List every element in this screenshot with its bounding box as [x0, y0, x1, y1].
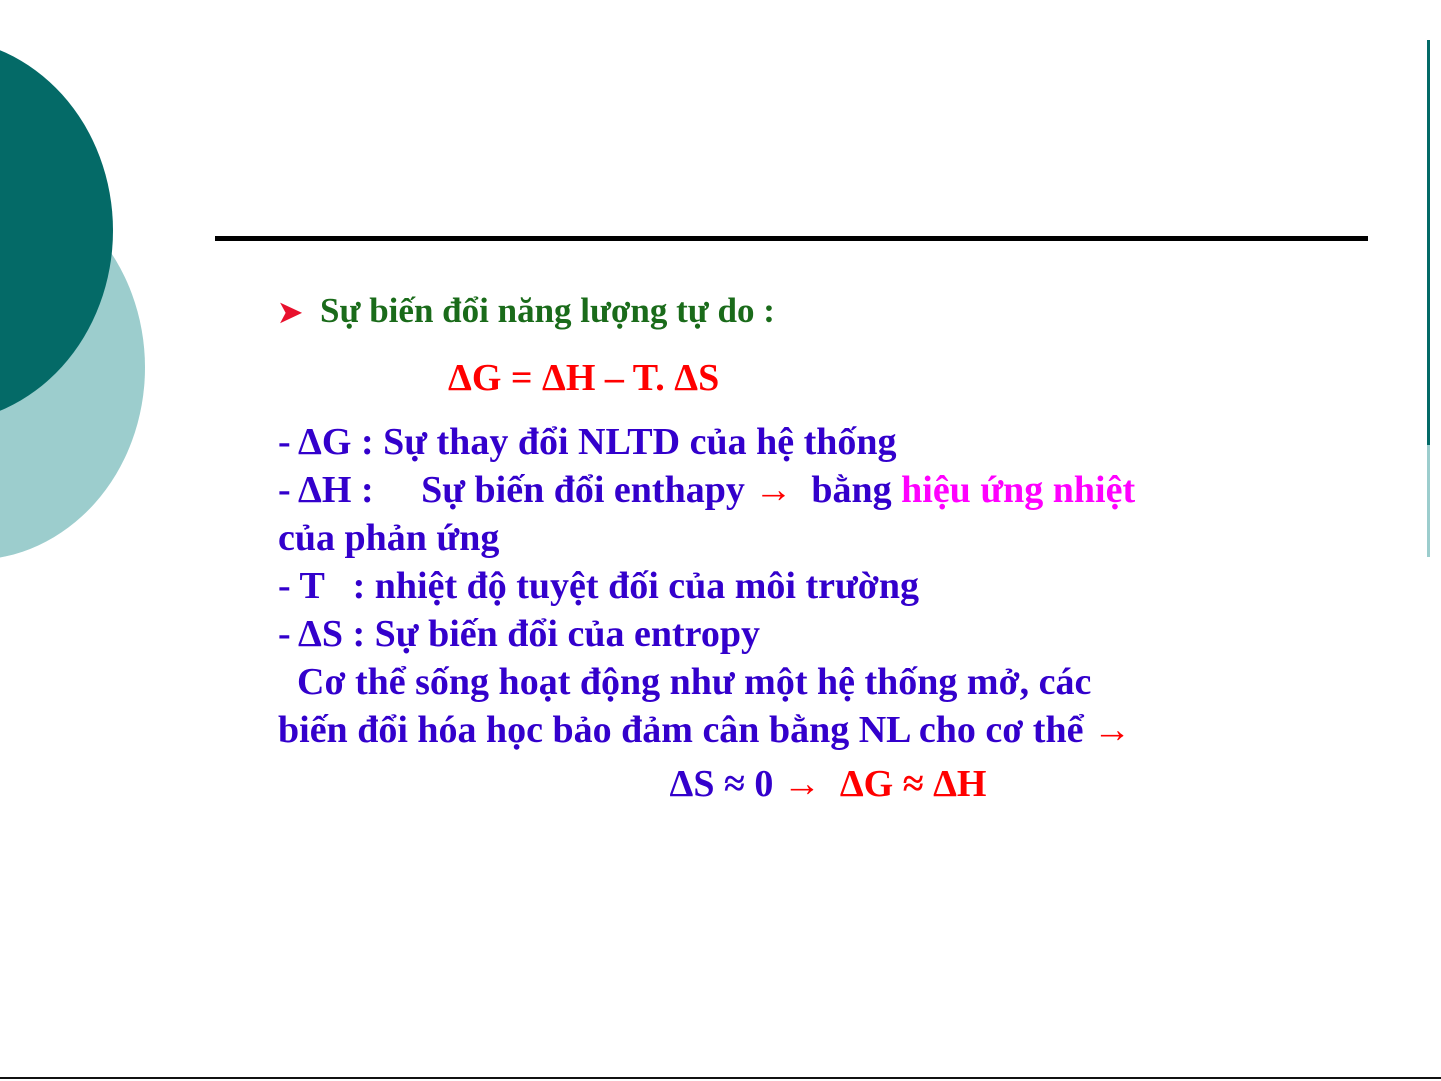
definition-t-text: - T : nhiệt độ tuyệt đối của môi trường [278, 565, 919, 607]
highlight-hieu-ung-nhiet: hiệu ứng nhiệt [901, 469, 1135, 511]
definition-delta-h-cont-text: của phản ứng [278, 517, 499, 559]
slide-body-text: ➤Sự biến đổi năng lượng tự do : ΔG = ΔH … [278, 288, 1338, 808]
definition-delta-s-text: - ΔS : Sự biến đổi của entropy [278, 613, 760, 655]
right-edge-rule-dark [1427, 40, 1430, 445]
conclusion-right-term: ΔG ≈ ΔH [821, 763, 987, 805]
right-arrow-icon-3: → [783, 763, 821, 805]
definition-delta-s: - ΔS : Sự biến đổi của entropy [278, 610, 1338, 658]
paragraph-line-2: biến đổi hóa học bảo đảm cân bằng NL cho… [278, 706, 1338, 754]
definition-delta-g-text: - ΔG : Sự thay đổi NLTD của hệ thống [278, 421, 897, 463]
paragraph-line-1: Cơ thể sống hoạt động như một hệ thống m… [278, 658, 1338, 706]
definition-t: - T : nhiệt độ tuyệt đối của môi trường [278, 562, 1338, 610]
conclusion-left-term: ΔS ≈ 0 [670, 763, 783, 805]
bottom-hairline-rule [0, 1077, 1441, 1079]
title-divider-rule [215, 236, 1368, 241]
slide-canvas: ➤Sự biến đổi năng lượng tự do : ΔG = ΔH … [0, 0, 1441, 1081]
definition-delta-h: - ΔH : Sự biến đổi enthapy → bằng hiệu ứ… [278, 466, 1338, 514]
paragraph-line-2-text: biến đổi hóa học bảo đảm cân bằng NL cho… [278, 709, 1093, 751]
paragraph-line-1-text: Cơ thể sống hoạt động như một hệ thống m… [278, 661, 1091, 703]
definition-delta-h-text-2: bằng [792, 469, 901, 511]
heading-line: ➤Sự biến đổi năng lượng tự do : [278, 288, 1338, 336]
right-arrow-icon-1: → [754, 469, 792, 511]
right-edge-rule-light [1427, 445, 1430, 557]
definition-delta-g: - ΔG : Sự thay đổi NLTD của hệ thống [278, 418, 1338, 466]
main-formula: ΔG = ΔH – T. ΔS [278, 354, 1338, 402]
main-formula-text: ΔG = ΔH – T. ΔS [448, 357, 719, 399]
heading-text: Sự biến đổi năng lượng tự do : [320, 291, 775, 330]
definition-delta-h-cont: của phản ứng [278, 514, 1338, 562]
definition-delta-h-text: - ΔH : Sự biến đổi enthapy [278, 469, 754, 511]
arrow-bullet-icon: ➤ [278, 290, 320, 336]
right-arrow-icon-2: → [1093, 709, 1131, 751]
conclusion-formula: ΔS ≈ 0 → ΔG ≈ ΔH [278, 760, 1338, 808]
